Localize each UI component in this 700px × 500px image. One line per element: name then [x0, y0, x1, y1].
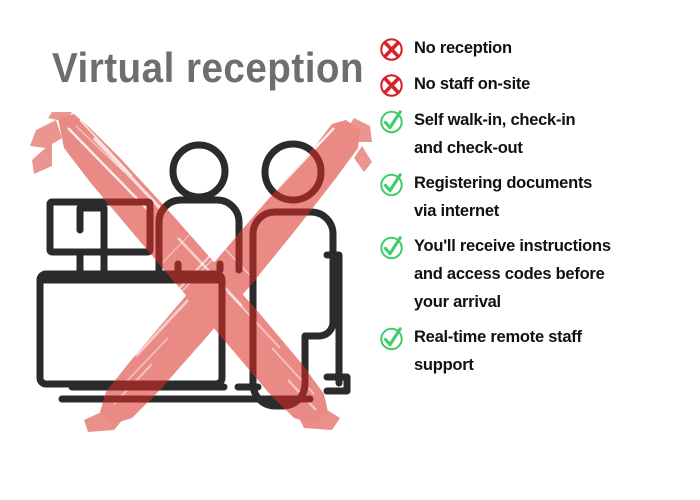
list-item: No staff on-site [378, 70, 696, 99]
list-item: Real-time remote staff support [378, 323, 696, 379]
green-check-circle-icon [378, 234, 405, 261]
feature-label: Real-time remote staff support [414, 323, 582, 379]
red-cross-circle-icon [378, 36, 405, 63]
list-item: Self walk-in, check-in and check-out [378, 106, 696, 162]
feature-label: No staff on-site [414, 70, 530, 98]
list-item: No reception [378, 34, 696, 63]
red-cross-circle-icon [378, 72, 405, 99]
feature-label: Registering documents via internet [414, 169, 592, 225]
list-item: You'll receive instructions and access c… [378, 232, 696, 316]
crossed-out-reception-illustration [28, 112, 373, 432]
green-check-circle-icon [378, 108, 405, 135]
feature-list: No reception No staff on-site Self walk-… [378, 34, 696, 386]
feature-label: You'll receive instructions and access c… [414, 232, 611, 316]
list-item: Registering documents via internet [378, 169, 696, 225]
feature-label: Self walk-in, check-in and check-out [414, 106, 575, 162]
left-column: Virtual reception [0, 0, 370, 500]
green-check-circle-icon [378, 325, 405, 352]
page-title: Virtual reception [52, 44, 337, 92]
feature-label: No reception [414, 34, 512, 62]
infographic-root: Virtual reception [0, 0, 700, 500]
green-check-circle-icon [378, 171, 405, 198]
